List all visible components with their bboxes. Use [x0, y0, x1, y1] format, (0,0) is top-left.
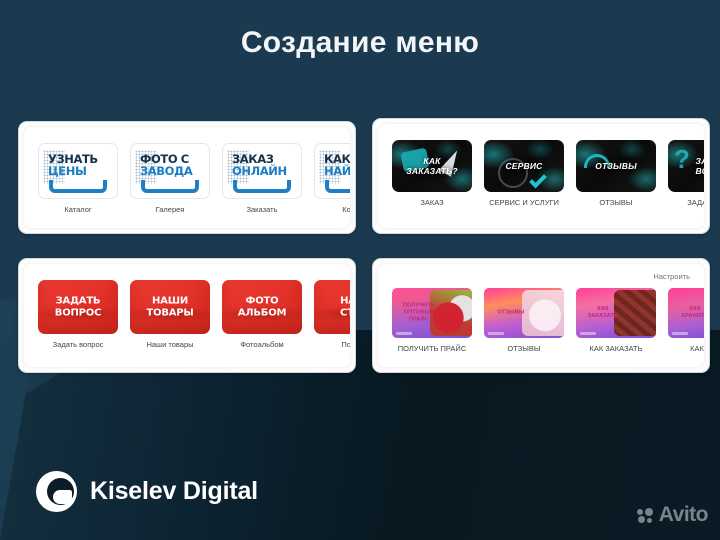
tile-caption: ЗАКАЗ ОНЛАЙН [232, 153, 297, 177]
tile-caption: НАШИ ТОВАРЫ [130, 296, 210, 319]
tile-row: КАК ЗАКАЗАТЬ? ЗАКАЗ СЕРВИС СЕРВИС И УСЛУ… [392, 140, 704, 207]
tile-caption: КАК Н НАЙТИ [324, 153, 350, 177]
tile-thumbnail[interactable]: ЗАДАТЬ ВОПРОС [38, 280, 118, 334]
tile-caption-line1: НАШ [314, 296, 350, 308]
tile-tagline-bar [580, 332, 596, 335]
tile-thumbnail[interactable]: ЗАКАЗ ОНЛАЙН [222, 143, 302, 199]
menu-tile[interactable]: ПОЛУЧИТЬ ОПТОВЫЙ ПРАЙС ПОЛУЧИТЬ ПРАЙС [392, 288, 472, 353]
tile-caption: ЗАДА ВОПР [668, 156, 704, 176]
menu-tile[interactable]: ЗАДАТЬ ВОПРОС Задать вопрос [38, 280, 118, 349]
tile-caption: НАШ СТАТ [314, 296, 350, 319]
avito-dots-logo-icon [637, 508, 654, 523]
tile-caption: КАК ЗАКАЗАТЬ [581, 306, 625, 320]
tile-thumbnail[interactable]: УЗНАТЬ ЦЕНЫ [38, 143, 118, 199]
tile-caption: ФОТО С ЗАВОДА [140, 153, 205, 177]
tile-row: ЗАДАТЬ ВОПРОС Задать вопрос НАШИ ТОВАРЫ … [38, 280, 350, 349]
tile-caption: ОТЗЫВЫ [576, 161, 656, 171]
tile-tagline-bar [488, 332, 504, 335]
panel-inner: Настроить ПОЛУЧИТЬ ОПТОВЫЙ ПРАЙС ПОЛУЧИТ… [378, 264, 704, 367]
tile-label: Галерея [130, 205, 210, 214]
tile-caption-line1: ФОТО [222, 296, 302, 308]
menu-tile[interactable]: ФОТО АЛЬБОМ Фотоальбом [222, 280, 302, 349]
bracket-shape-icon [325, 180, 350, 193]
tile-caption-line2: ВОПРОС [38, 307, 118, 319]
tile-label: Каталог [38, 205, 118, 214]
panel-blue-vector: УЗНАТЬ ЦЕНЫ Каталог ФОТО С ЗАВОДА Галере [18, 121, 356, 234]
tile-caption: ФОТО АЛЬБОМ [222, 296, 302, 319]
panel-inner: КАК ЗАКАЗАТЬ? ЗАКАЗ СЕРВИС СЕРВИС И УСЛУ… [378, 124, 704, 228]
tile-label: ОТЗЫВЫ [576, 198, 656, 207]
tile-caption-line1: ЗАДАТЬ [38, 296, 118, 308]
settings-link[interactable]: Настроить [653, 272, 690, 281]
menu-tile[interactable]: ОТЗЫВЫ ОТЗЫВЫ [484, 288, 564, 353]
tile-caption: УЗНАТЬ ЦЕНЫ [48, 153, 113, 177]
panel-red: ЗАДАТЬ ВОПРОС Задать вопрос НАШИ ТОВАРЫ … [18, 258, 356, 373]
tile-label: Полезн [314, 340, 350, 349]
avito-wordmark: Avito [659, 503, 708, 527]
brand-name: Kiselev Digital [90, 477, 258, 506]
tile-caption-line1: ОТЗЫВЫ [489, 310, 533, 317]
tile-thumbnail[interactable]: ПОЛУЧИТЬ ОПТОВЫЙ ПРАЙС [392, 288, 472, 338]
tile-label: КАК ЗАКАЗАТЬ [576, 344, 656, 353]
tile-label: КАК ХРАН [668, 344, 704, 353]
tile-caption-line1: ПОЛУЧИТЬ [397, 303, 441, 310]
tile-caption: КАК ХРАНИТЬ [673, 306, 704, 320]
tile-caption-line1: СЕРВИС [484, 161, 564, 171]
tile-caption-line1: КАК [392, 156, 472, 166]
tile-caption: СЕРВИС [484, 161, 564, 171]
tile-label: ОТЗЫВЫ [484, 344, 564, 353]
menu-tile[interactable]: УЗНАТЬ ЦЕНЫ Каталог [38, 143, 118, 214]
tile-label: ЗАДАТЬ ВО [668, 198, 704, 207]
tile-thumbnail[interactable]: КАК ХРАНИТЬ [668, 288, 704, 338]
tile-label: Заказать [222, 205, 302, 214]
tile-label: СЕРВИС И УСЛУГИ [484, 198, 564, 207]
tile-label: Фотоальбом [222, 340, 302, 349]
tile-thumbnail[interactable]: КАК ЗАКАЗАТЬ? [392, 140, 472, 192]
panel-inner: ЗАДАТЬ ВОПРОС Задать вопрос НАШИ ТОВАРЫ … [24, 264, 350, 367]
tile-caption-line1: ОТЗЫВЫ [576, 161, 656, 171]
tile-label: Контак [314, 205, 350, 214]
tile-caption-line2: ЦЕНЫ [48, 165, 113, 177]
tile-caption-line2: ЗАКАЗАТЬ? [392, 166, 472, 176]
tile-thumbnail[interactable]: ОТЗЫВЫ [576, 140, 656, 192]
tile-thumbnail[interactable]: КАК ЗАКАЗАТЬ [576, 288, 656, 338]
menu-tile[interactable]: СЕРВИС СЕРВИС И УСЛУГИ [484, 140, 564, 207]
tile-caption-line2: ЗАВОДА [140, 165, 205, 177]
menu-tile[interactable]: ОТЗЫВЫ ОТЗЫВЫ [576, 140, 656, 207]
tile-caption-line3: ПРАЙС [397, 317, 441, 324]
tile-caption-line1: НАШИ [130, 296, 210, 308]
tile-caption-line1: ЗАДА [668, 156, 704, 166]
menu-tile[interactable]: КАК ЗАКАЗАТЬ КАК ЗАКАЗАТЬ [576, 288, 656, 353]
tile-label: ПОЛУЧИТЬ ПРАЙС [392, 344, 472, 353]
tile-thumbnail[interactable]: ОТЗЫВЫ [484, 288, 564, 338]
tile-label: Задать вопрос [38, 340, 118, 349]
tile-thumbnail[interactable]: ФОТО АЛЬБОМ [222, 280, 302, 334]
tile-thumbnail[interactable]: ? ЗАДА ВОПР [668, 140, 704, 192]
tile-tagline-bar [396, 332, 412, 335]
tile-caption-line2: СТАТ [314, 307, 350, 319]
tile-caption-line2: ХРАНИТЬ [673, 313, 704, 320]
tile-caption-line2: ТОВАРЫ [130, 307, 210, 319]
check-mark-icon [529, 171, 547, 189]
tile-caption: ПОЛУЧИТЬ ОПТОВЫЙ ПРАЙС [397, 303, 441, 324]
tile-label: ЗАКАЗ [392, 198, 472, 207]
tile-caption: ЗАДАТЬ ВОПРОС [38, 296, 118, 319]
brand-lockup: Kiselev Digital [36, 471, 258, 512]
tile-tagline-bar [672, 332, 688, 335]
menu-tile[interactable]: ЗАКАЗ ОНЛАЙН Заказать [222, 143, 302, 214]
menu-tile[interactable]: КАК ХРАНИТЬ КАК ХРАН [668, 288, 704, 353]
tile-caption-line1: КАК [581, 306, 625, 313]
panel-dark-teal: КАК ЗАКАЗАТЬ? ЗАКАЗ СЕРВИС СЕРВИС И УСЛУ… [372, 118, 710, 234]
tile-row: УЗНАТЬ ЦЕНЫ Каталог ФОТО С ЗАВОДА Галере [38, 143, 350, 214]
tile-row: ПОЛУЧИТЬ ОПТОВЫЙ ПРАЙС ПОЛУЧИТЬ ПРАЙС ОТ… [392, 288, 704, 353]
tile-caption: ОТЗЫВЫ [489, 310, 533, 317]
tile-thumbnail[interactable]: ФОТО С ЗАВОДА [130, 143, 210, 199]
avito-watermark: Avito [637, 503, 708, 527]
tile-caption-line2: АЛЬБОМ [222, 307, 302, 319]
menu-tile[interactable]: КАК Н НАЙТИ Контак [314, 143, 350, 214]
tile-thumbnail[interactable]: СЕРВИС [484, 140, 564, 192]
bracket-shape-icon [141, 180, 199, 193]
tile-thumbnail[interactable]: НАШ СТАТ [314, 280, 350, 334]
bracket-shape-icon [49, 180, 107, 193]
tile-caption-line1: КАК [673, 306, 704, 313]
menu-tile[interactable]: НАШ СТАТ Полезн [314, 280, 350, 349]
tile-caption-line2: ОПТОВЫЙ [397, 310, 441, 317]
tile-caption-line2: ВОПР [668, 166, 704, 176]
tile-caption-line2: ЗАКАЗАТЬ [581, 313, 625, 320]
page-title: Создание меню [0, 26, 720, 60]
menu-tile[interactable]: НАШИ ТОВАРЫ Наши товары [130, 280, 210, 349]
menu-tile[interactable]: ФОТО С ЗАВОДА Галерея [130, 143, 210, 214]
tile-caption: КАК ЗАКАЗАТЬ? [392, 156, 472, 176]
tile-thumbnail[interactable]: НАШИ ТОВАРЫ [130, 280, 210, 334]
panel-gradient-food: Настроить ПОЛУЧИТЬ ОПТОВЫЙ ПРАЙС ПОЛУЧИТ… [372, 258, 710, 373]
tile-caption-line2: ОНЛАЙН [232, 165, 297, 177]
panel-inner: УЗНАТЬ ЦЕНЫ Каталог ФОТО С ЗАВОДА Галере [24, 127, 350, 228]
menu-tile[interactable]: ? ЗАДА ВОПР ЗАДАТЬ ВО [668, 140, 704, 207]
tile-label: Наши товары [130, 340, 210, 349]
tile-thumbnail[interactable]: КАК Н НАЙТИ [314, 143, 350, 199]
tile-caption-line2: НАЙТИ [324, 165, 350, 177]
kiselev-circle-logo-icon [36, 471, 77, 512]
menu-tile[interactable]: КАК ЗАКАЗАТЬ? ЗАКАЗ [392, 140, 472, 207]
bracket-shape-icon [233, 180, 291, 193]
